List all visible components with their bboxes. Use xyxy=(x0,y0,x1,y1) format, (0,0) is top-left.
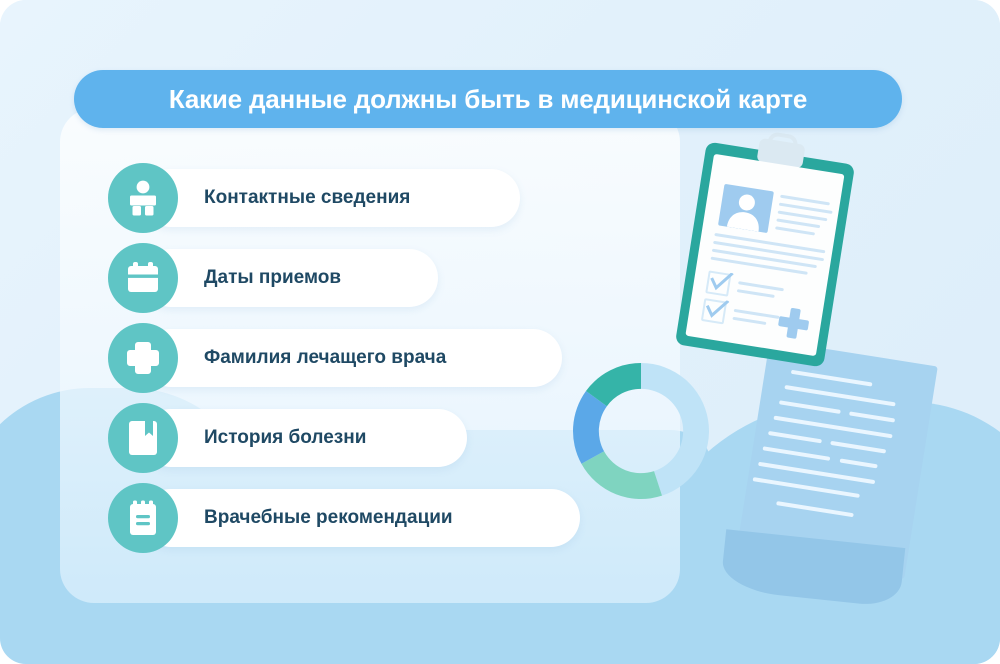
person-silhouette-icon xyxy=(718,184,774,233)
list-item[interactable]: Даты приемов xyxy=(108,243,178,313)
record-fields-list: Контактные сведения Даты приемов xyxy=(108,163,178,563)
list-item-pill: Фамилия лечащего врача xyxy=(142,329,562,387)
clipboard-list-icon-glyph xyxy=(127,500,159,536)
list-item[interactable]: Контактные сведения xyxy=(108,163,178,233)
record-text-line xyxy=(732,317,766,325)
list-item-label: История болезни xyxy=(204,427,366,449)
calendar-icon xyxy=(108,243,178,313)
paper-document xyxy=(736,340,938,579)
infographic-canvas: Какие данные должны быть в медицинской к… xyxy=(0,0,1000,664)
patient-avatar-icon xyxy=(718,184,774,233)
list-item[interactable]: Фамилия лечащего врача xyxy=(108,323,178,393)
medical-cross-icon-glyph xyxy=(126,341,160,375)
page-title: Какие данные должны быть в медицинской к… xyxy=(169,84,807,115)
checkmark-icon xyxy=(708,270,735,295)
medical-cross-icon xyxy=(108,323,178,393)
donut-chart-svg xyxy=(566,356,716,506)
bookmark-book-icon xyxy=(108,403,178,473)
bookmark-book-icon-glyph xyxy=(128,420,158,456)
list-item-pill: История болезни xyxy=(142,409,467,467)
list-item-label: Контактные сведения xyxy=(204,187,410,209)
donut-slice xyxy=(581,451,662,499)
list-item-label: Врачебные рекомендации xyxy=(204,507,453,529)
list-item[interactable]: История болезни xyxy=(108,403,178,473)
list-item-pill: Даты приемов xyxy=(142,249,438,307)
medical-cross-icon xyxy=(776,306,810,340)
clipboard-list-icon xyxy=(108,483,178,553)
checkmark-icon xyxy=(703,297,730,322)
list-item[interactable]: Врачебные рекомендации xyxy=(108,483,178,553)
list-item-pill: Контактные сведения xyxy=(142,169,520,227)
medical-record-clipboard xyxy=(675,142,855,368)
list-item-label: Фамилия лечащего врача xyxy=(204,347,446,369)
record-text-line xyxy=(737,289,775,298)
list-item-pill: Врачебные рекомендации xyxy=(142,489,580,547)
person-icon xyxy=(108,163,178,233)
page-title-banner: Какие данные должны быть в медицинской к… xyxy=(74,70,902,128)
list-item-label: Даты приемов xyxy=(204,267,341,289)
record-text-line xyxy=(775,226,815,235)
donut-chart xyxy=(566,356,716,506)
calendar-icon-glyph xyxy=(126,261,160,295)
person-icon-glyph xyxy=(126,180,160,216)
